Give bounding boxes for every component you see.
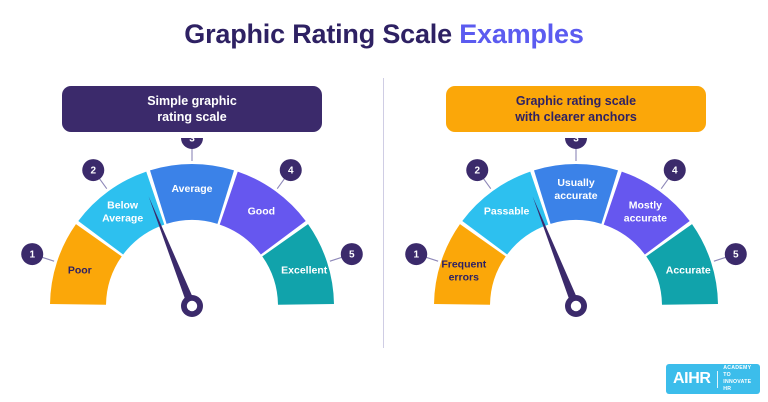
gauge-right: Frequent errors Passable Usually accurat… bbox=[396, 138, 756, 348]
segment-label-2-line1: Below bbox=[107, 200, 139, 212]
needle-hub-inner bbox=[187, 301, 197, 311]
gauge-left: Poor Below Average Average Good Excellen… bbox=[12, 138, 372, 348]
badge-number-5: 5 bbox=[349, 250, 355, 261]
logo-tagline-line2: INNOVATE HR bbox=[723, 379, 753, 393]
badge-number-2: 2 bbox=[474, 166, 480, 177]
segment-label-1-line1: Poor bbox=[68, 265, 92, 277]
badge-number-4: 4 bbox=[288, 166, 294, 177]
page-title-accent: Examples bbox=[459, 19, 583, 49]
segment-label-4-line1: Good bbox=[248, 206, 275, 218]
banner-line2: with clearer anchors bbox=[515, 109, 637, 125]
segment-label-3-line1: Usually bbox=[557, 177, 595, 189]
badge-number-2: 2 bbox=[90, 166, 96, 177]
badge-number-1: 1 bbox=[413, 250, 419, 261]
needle-hub-inner bbox=[571, 301, 581, 311]
segment-label-5-line1: Accurate bbox=[666, 265, 711, 277]
page-title-main: Graphic Rating Scale bbox=[184, 19, 452, 49]
segment-label-2-line2: Average bbox=[102, 213, 143, 225]
panel-simple-graphic-rating-scale: Simple graphic rating scale Poor Below A… bbox=[0, 80, 384, 355]
logo-tagline: ACADEMY TO INNOVATE HR bbox=[723, 365, 753, 393]
gauge-left-svg: Poor Below Average Average Good Excellen… bbox=[12, 138, 372, 348]
badge-number-5: 5 bbox=[733, 250, 739, 261]
infographic-page: Graphic Rating Scale Examples Simple gra… bbox=[0, 0, 768, 402]
segment-label-4-line1: Mostly bbox=[629, 200, 662, 212]
segment-label-3-line1: Average bbox=[171, 183, 212, 195]
logo-wordmark: AIHR bbox=[673, 371, 711, 387]
badge-number-3: 3 bbox=[189, 138, 195, 145]
banner-line1: Simple graphic bbox=[147, 93, 237, 109]
segment-label-5-line1: Excellent bbox=[281, 265, 328, 277]
panel-banner-left: Simple graphic rating scale bbox=[62, 86, 322, 132]
banner-line1: Graphic rating scale bbox=[515, 93, 637, 109]
banner-line2: rating scale bbox=[147, 109, 237, 125]
panel-banner-right: Graphic rating scale with clearer anchor… bbox=[446, 86, 706, 132]
badge-number-3: 3 bbox=[573, 138, 579, 145]
segment-label-2-line1: Passable bbox=[484, 206, 530, 218]
page-title: Graphic Rating Scale Examples bbox=[0, 18, 768, 50]
segment-label-1-line1: Frequent bbox=[441, 259, 486, 271]
segment-label-4-line2: accurate bbox=[624, 213, 667, 225]
badge-number-4: 4 bbox=[672, 166, 678, 177]
gauge-right-svg: Frequent errors Passable Usually accurat… bbox=[396, 138, 756, 348]
badge-number-1: 1 bbox=[29, 250, 35, 261]
segment-label-3-line2: accurate bbox=[554, 190, 597, 202]
logo-divider bbox=[717, 371, 718, 388]
panel-graphic-rating-scale-with-clearer-anchors: Graphic rating scale with clearer anchor… bbox=[384, 80, 768, 355]
logo-tagline-line1: ACADEMY TO bbox=[723, 365, 753, 379]
segment-label-1-line2: errors bbox=[449, 272, 480, 284]
aihr-logo: AIHR ACADEMY TO INNOVATE HR bbox=[666, 364, 760, 394]
